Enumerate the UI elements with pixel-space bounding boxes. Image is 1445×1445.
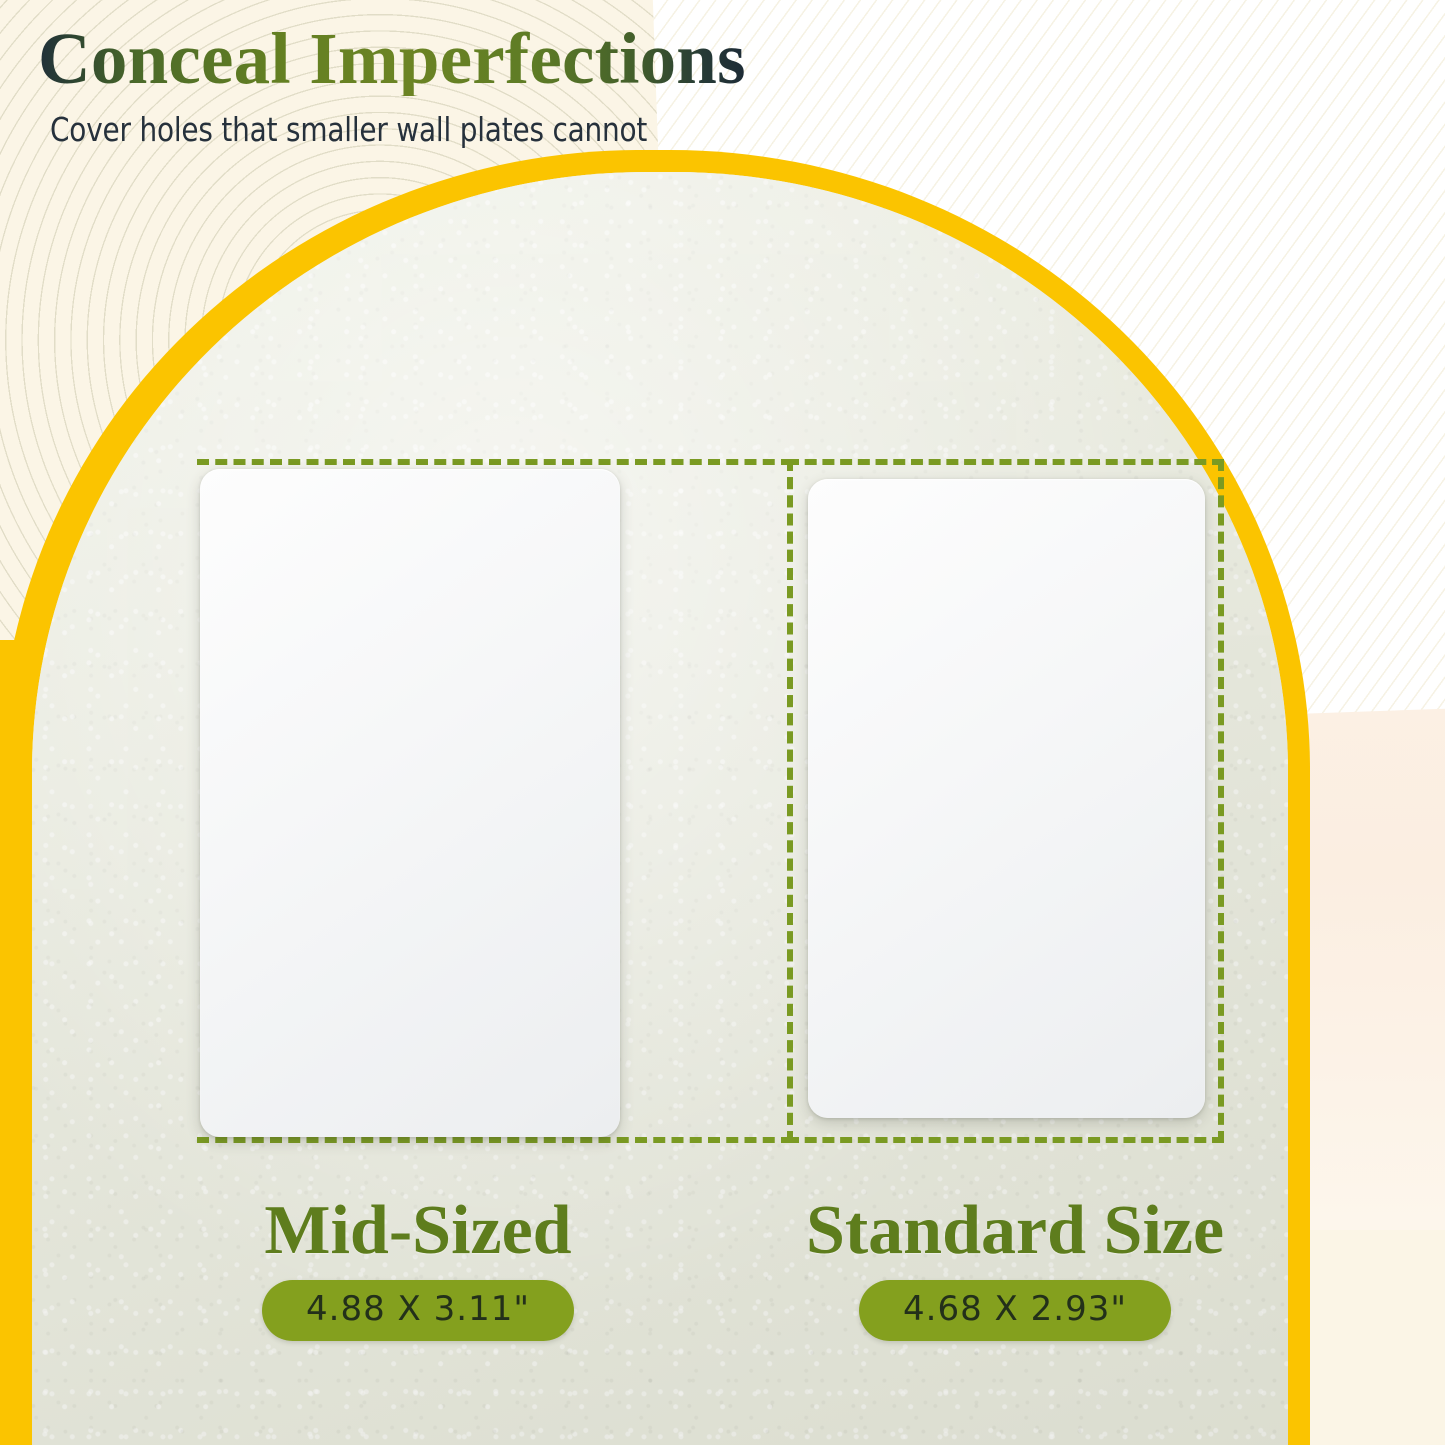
- label-group-standard-size: Standard Size 4.68 X 2.93": [725, 1196, 1305, 1341]
- dimension-badge-standard-size: 4.68 X 2.93": [859, 1280, 1171, 1341]
- size-label-mid-sized: Mid-Sized: [128, 1196, 708, 1266]
- size-label-standard-size: Standard Size: [725, 1196, 1305, 1266]
- page-title: Conceal Imperfections: [38, 22, 746, 96]
- wall-plate-mid-sized: [200, 469, 620, 1137]
- page-subtitle: Cover holes that smaller wall plates can…: [50, 110, 704, 149]
- header-block: Conceal Imperfections Cover holes that s…: [38, 22, 746, 149]
- wall-plate-standard-size: [808, 479, 1205, 1118]
- infographic-canvas: Conceal Imperfections Cover holes that s…: [0, 0, 1445, 1445]
- arch-yellow-rail-left: [0, 640, 32, 1445]
- dimension-badge-mid-sized: 4.88 X 3.11": [262, 1280, 574, 1341]
- label-group-mid-sized: Mid-Sized 4.88 X 3.11": [128, 1196, 708, 1341]
